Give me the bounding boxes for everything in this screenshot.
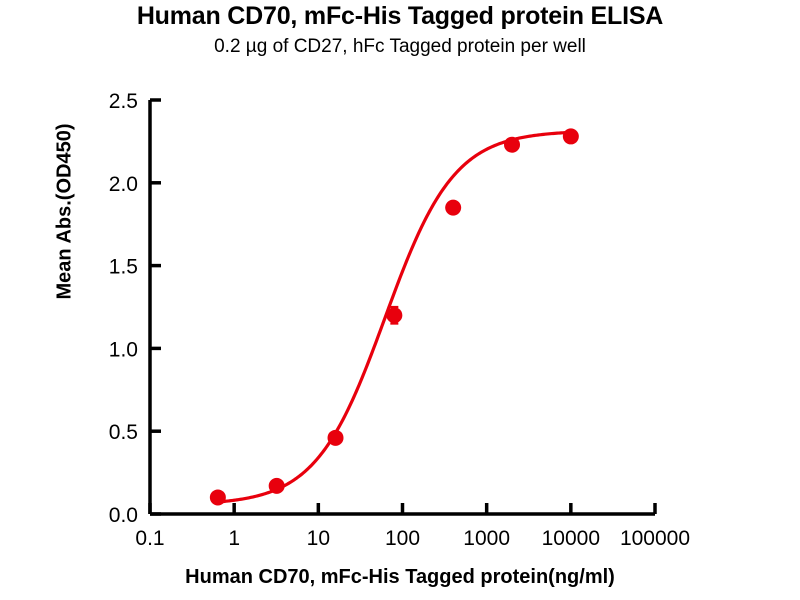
data-point-marker — [563, 128, 579, 144]
y-tick-label: 1.5 — [109, 256, 138, 279]
data-point-marker — [504, 137, 520, 153]
data-point-marker — [328, 430, 344, 446]
axes — [150, 100, 655, 514]
y-axis-ticks: 0.00.51.01.52.02.5 — [109, 90, 161, 527]
y-tick-label: 1.0 — [109, 338, 138, 361]
y-tick-label: 0.5 — [109, 421, 138, 444]
x-tick-label: 1 — [228, 527, 240, 550]
data-point-marker — [210, 489, 226, 505]
error-bars — [332, 141, 516, 441]
x-tick-label: 10 — [307, 527, 330, 550]
data-point-marker — [386, 307, 402, 323]
elisa-chart-figure: Human CD70, mFc-His Tagged protein ELISA… — [0, 0, 800, 600]
plot-area: 0.1110100100010000100000 0.00.51.01.52.0… — [0, 0, 800, 600]
data-points — [210, 128, 579, 505]
x-tick-label: 100 — [385, 527, 420, 550]
data-point-marker — [445, 200, 461, 216]
y-tick-label: 2.5 — [109, 90, 138, 113]
y-tick-label: 0.0 — [109, 504, 138, 527]
x-tick-label: 10000 — [542, 527, 600, 550]
x-tick-label: 100000 — [620, 527, 690, 550]
y-tick-label: 2.0 — [109, 173, 138, 196]
x-axis-ticks: 0.1110100100010000100000 — [135, 503, 690, 550]
x-tick-label: 1000 — [463, 527, 510, 550]
data-point-marker — [269, 478, 285, 494]
x-tick-label: 0.1 — [135, 527, 164, 550]
